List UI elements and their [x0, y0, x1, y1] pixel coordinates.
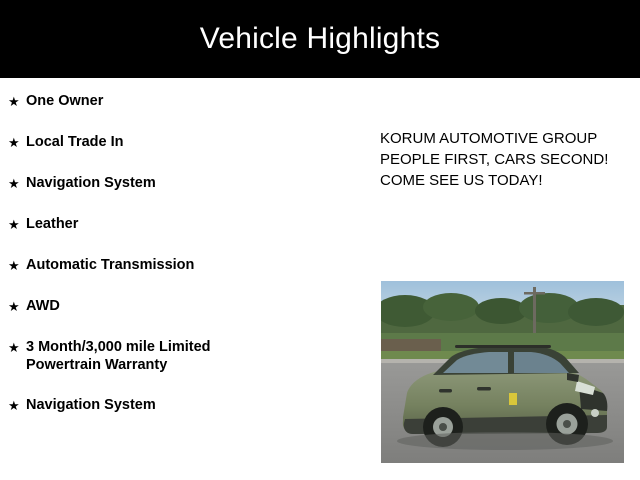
- dealer-message: KORUM AUTOMOTIVE GROUP PEOPLE FIRST, CAR…: [380, 128, 630, 191]
- content-area: ★ One Owner ★ Local Trade In ★ Navigatio…: [0, 78, 640, 480]
- star-icon: ★: [8, 92, 26, 111]
- star-icon: ★: [8, 256, 26, 275]
- page-title: Vehicle Highlights: [0, 0, 640, 78]
- list-item: ★ AWD: [8, 297, 368, 316]
- star-icon: ★: [8, 215, 26, 234]
- list-item: ★ Navigation System: [8, 174, 368, 193]
- feature-label: 3 Month/3,000 mile Limited Powertrain Wa…: [26, 338, 211, 374]
- star-icon: ★: [8, 396, 26, 415]
- vehicle-highlights-page: Vehicle Highlights ★ One Owner ★ Local T…: [0, 0, 640, 480]
- list-item: ★ Automatic Transmission: [8, 256, 368, 275]
- list-item: ★ Local Trade In: [8, 133, 368, 152]
- features-list: ★ One Owner ★ Local Trade In ★ Navigatio…: [8, 92, 368, 437]
- list-item: ★ Leather: [8, 215, 368, 234]
- feature-label: AWD: [26, 297, 60, 315]
- list-item: ★ One Owner: [8, 92, 368, 111]
- star-icon: ★: [8, 297, 26, 316]
- feature-label: Leather: [26, 215, 78, 233]
- feature-label: Navigation System: [26, 174, 156, 192]
- feature-label: One Owner: [26, 92, 103, 110]
- feature-label: Navigation System: [26, 396, 156, 414]
- feature-label: Local Trade In: [26, 133, 124, 151]
- vehicle-photo: [381, 281, 624, 463]
- list-item: ★ Navigation System: [8, 396, 368, 415]
- star-icon: ★: [8, 338, 26, 357]
- feature-label: Automatic Transmission: [26, 256, 194, 274]
- star-icon: ★: [8, 133, 26, 152]
- list-item: ★ 3 Month/3,000 mile Limited Powertrain …: [8, 338, 368, 374]
- star-icon: ★: [8, 174, 26, 193]
- header-bar: Vehicle Highlights: [0, 0, 640, 78]
